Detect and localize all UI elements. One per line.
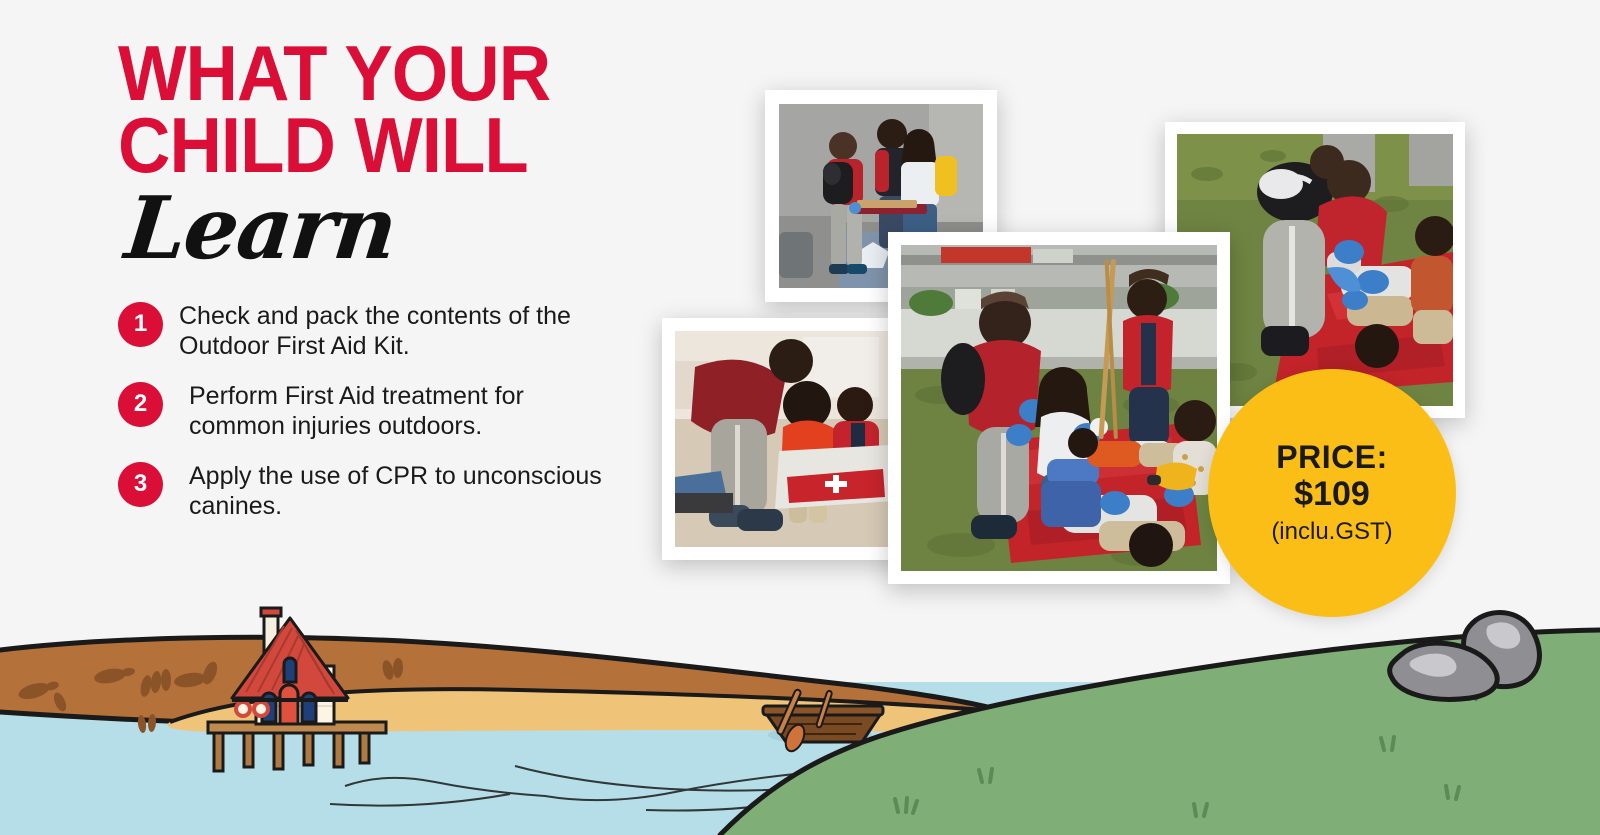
learning-points-list: 1 Check and pack the contents of the Out…: [118, 300, 618, 522]
photo-image: [901, 245, 1217, 571]
number-badge-3: 3: [118, 462, 163, 507]
photo-image: [675, 331, 897, 547]
price-label: PRICE:: [1276, 440, 1387, 475]
photo-frame-outdoor-scenario: [888, 232, 1230, 584]
poster-canvas: WHAT YOUR CHILD WILL Learn 1 Check and p…: [0, 0, 1600, 835]
price-amount: $109: [1294, 475, 1370, 514]
page-title: WHAT YOUR CHILD WILL Learn: [118, 38, 618, 272]
headline-line-1: WHAT YOUR: [118, 38, 583, 110]
photo-frame-indoor-training: [662, 318, 910, 560]
photo-scene-indoor: [675, 331, 897, 547]
list-item-text: Check and pack the contents of the Outdo…: [163, 300, 618, 362]
photo-scene-outdoor-scenario: [901, 245, 1217, 571]
list-item-text: Apply the use of CPR to unconscious cani…: [163, 460, 618, 522]
list-item: 1 Check and pack the contents of the Out…: [118, 300, 618, 362]
number-badge-1: 1: [118, 302, 163, 347]
headline-line-2: CHILD WILL: [118, 110, 583, 182]
list-item: 3 Apply the use of CPR to unconscious ca…: [118, 460, 618, 522]
left-content-column: WHAT YOUR CHILD WILL Learn 1 Check and p…: [118, 38, 618, 540]
number-badge-2: 2: [118, 382, 163, 427]
list-item: 2 Perform First Aid treatment for common…: [118, 380, 618, 442]
list-item-text: Perform First Aid treatment for common i…: [163, 380, 618, 442]
price-badge: PRICE: $109 (inclu.GST): [1208, 369, 1456, 617]
headline-script-word: Learn: [121, 186, 622, 272]
price-note: (inclu.GST): [1271, 519, 1392, 545]
